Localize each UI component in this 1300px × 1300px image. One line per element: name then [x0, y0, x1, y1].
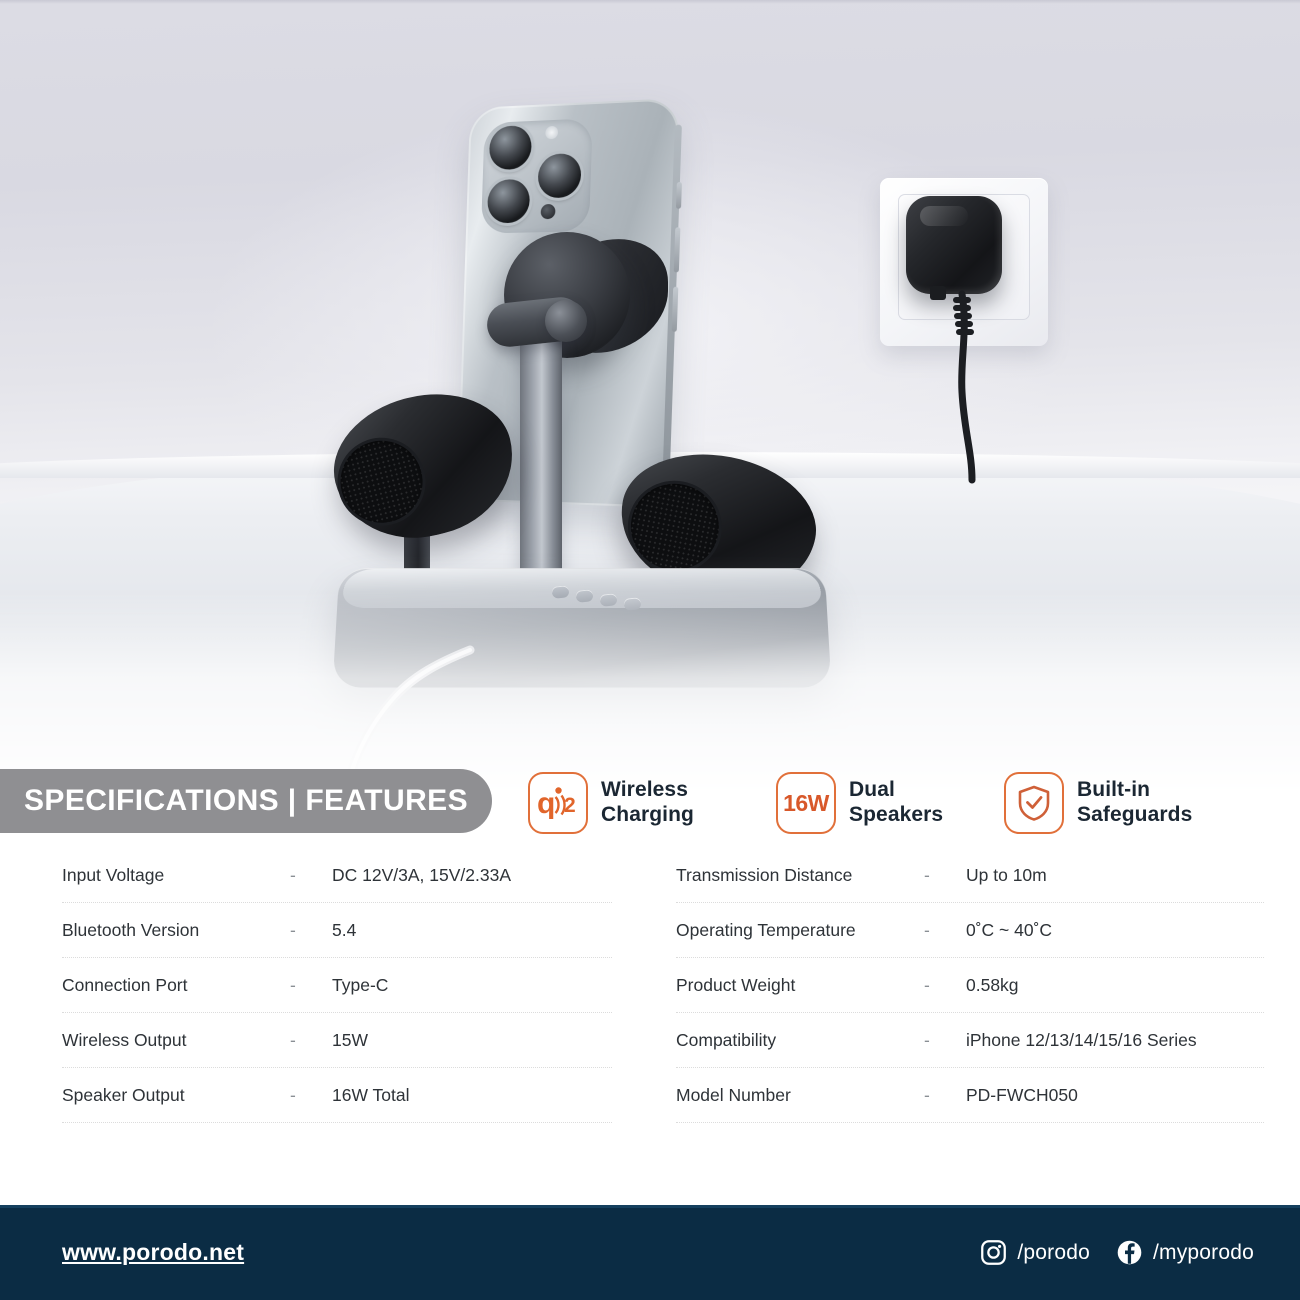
phone-mute-switch [676, 182, 682, 209]
spec-value: DC 12V/3A, 15V/2.33A [332, 865, 612, 886]
camera-island [481, 118, 593, 233]
table-row: Bluetooth Version - 5.4 [62, 903, 612, 958]
specifications-table: Input Voltage - DC 12V/3A, 15V/2.33A Blu… [0, 848, 1300, 1138]
badge-line-1: Dual [849, 778, 943, 803]
table-row: Compatibility - iPhone 12/13/14/15/16 Se… [676, 1013, 1264, 1068]
spec-value: Up to 10m [966, 865, 1264, 886]
spec-dash: - [290, 865, 332, 886]
badge-line-2: Charging [601, 803, 694, 828]
lidar-sensor-icon [541, 204, 556, 219]
spec-key: Model Number [676, 1085, 924, 1106]
social-links: /porodo /myporodo [980, 1239, 1254, 1266]
spec-key: Input Voltage [62, 865, 290, 886]
stand-hinge-knob [545, 300, 587, 342]
specifications-column-left: Input Voltage - DC 12V/3A, 15V/2.33A Blu… [0, 848, 650, 1138]
spec-value: 15W [332, 1030, 612, 1051]
badge-line-2: Speakers [849, 803, 943, 828]
table-row: Product Weight - 0.58kg [676, 958, 1264, 1013]
spec-key: Bluetooth Version [62, 920, 290, 941]
instagram-link[interactable]: /porodo [980, 1239, 1090, 1266]
spec-dash: - [924, 1030, 966, 1051]
adapter-cable-boot [930, 286, 946, 300]
svg-text:q: q [537, 787, 555, 820]
spec-dash: - [924, 1085, 966, 1106]
feature-badges: q 2 Wireless Charging 16W Dual Speakers [528, 760, 1300, 846]
camera-flash-icon [545, 126, 558, 140]
hero-top-edge [0, 0, 1300, 4]
spec-key: Product Weight [676, 975, 924, 996]
spec-key: Transmission Distance [676, 865, 924, 886]
spec-dash: - [290, 920, 332, 941]
spec-value: iPhone 12/13/14/15/16 Series [966, 1030, 1264, 1051]
qi2-icon: q 2 [528, 772, 588, 834]
spec-dash: - [290, 1030, 332, 1051]
badge-built-in-safeguards-label: Built-in Safeguards [1077, 778, 1192, 828]
spec-dash: - [290, 1085, 332, 1106]
16w-icon-text: 16W [783, 790, 829, 817]
badge-built-in-safeguards: Built-in Safeguards [1004, 772, 1284, 834]
table-row: Operating Temperature - 0˚C ~ 40˚C [676, 903, 1264, 958]
spec-key: Connection Port [62, 975, 290, 996]
shield-check-icon [1004, 772, 1064, 834]
table-row: Speaker Output - 16W Total [62, 1068, 612, 1123]
badge-line-1: Wireless [601, 778, 694, 803]
specifications-banner-title: SPECIFICATIONS | FEATURES [24, 784, 468, 818]
phone-volume-down [672, 287, 679, 332]
table-row: Connection Port - Type-C [62, 958, 612, 1013]
instagram-handle: /porodo [1017, 1241, 1090, 1265]
specifications-banner: SPECIFICATIONS | FEATURES [0, 769, 492, 833]
svg-text:2: 2 [564, 794, 576, 817]
shield-check-glyph [1017, 784, 1051, 822]
qi2-glyph: q 2 [536, 784, 580, 822]
table-row: Model Number - PD-FWCH050 [676, 1068, 1264, 1123]
table-row: Transmission Distance - Up to 10m [676, 848, 1264, 903]
spec-value: PD-FWCH050 [966, 1085, 1264, 1106]
badge-line-2: Safeguards [1077, 803, 1192, 828]
16w-icon: 16W [776, 772, 836, 834]
spec-value: 0˚C ~ 40˚C [966, 920, 1264, 941]
spec-value: Type-C [332, 975, 612, 996]
spec-dash: - [924, 975, 966, 996]
facebook-icon[interactable] [1116, 1239, 1143, 1266]
spec-dash: - [290, 975, 332, 996]
facebook-link[interactable]: /myporodo [1116, 1239, 1254, 1266]
badge-dual-speakers: 16W Dual Speakers [776, 772, 1004, 834]
phone-volume-up [674, 227, 681, 272]
spec-key: Speaker Output [62, 1085, 290, 1106]
spec-value: 16W Total [332, 1085, 612, 1106]
badge-dual-speakers-label: Dual Speakers [849, 778, 943, 828]
specifications-column-right: Transmission Distance - Up to 10m Operat… [650, 848, 1300, 1138]
spec-value: 5.4 [332, 920, 612, 941]
badge-wireless-charging-label: Wireless Charging [601, 778, 694, 828]
power-adapter [906, 196, 1002, 294]
camera-lens [537, 153, 581, 198]
spec-dash: - [924, 920, 966, 941]
spec-value: 0.58kg [966, 975, 1264, 996]
table-row: Input Voltage - DC 12V/3A, 15V/2.33A [62, 848, 612, 903]
camera-lens [487, 179, 530, 224]
badge-wireless-charging: q 2 Wireless Charging [528, 772, 776, 834]
page-footer: www.porodo.net /porodo /myporodo [0, 1205, 1300, 1300]
spec-key: Operating Temperature [676, 920, 924, 941]
badge-line-1: Built-in [1077, 778, 1192, 803]
footer-top-rule [0, 1205, 1300, 1208]
camera-lens [489, 125, 532, 170]
spec-key: Compatibility [676, 1030, 924, 1051]
spec-dash: - [924, 865, 966, 886]
product-hero-image [0, 0, 1300, 800]
instagram-icon[interactable] [980, 1239, 1007, 1266]
adapter-highlight [920, 206, 968, 226]
website-link[interactable]: www.porodo.net [62, 1239, 244, 1266]
table-row: Wireless Output - 15W [62, 1013, 612, 1068]
spec-key: Wireless Output [62, 1030, 290, 1051]
facebook-handle: /myporodo [1153, 1241, 1254, 1265]
